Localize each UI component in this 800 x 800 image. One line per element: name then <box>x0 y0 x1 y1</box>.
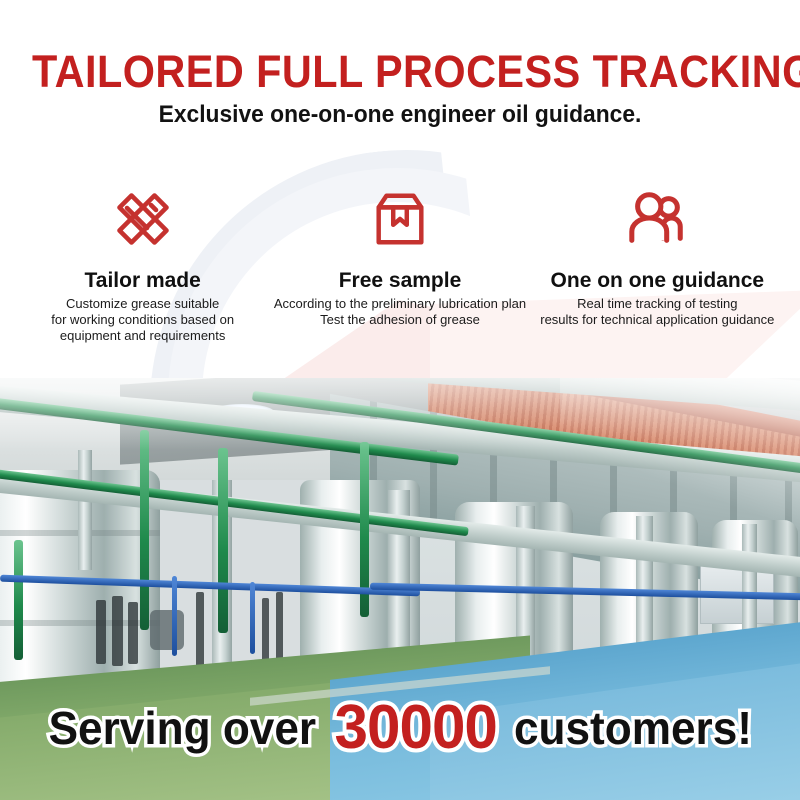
support-post <box>78 450 92 570</box>
feature-title: Tailor made <box>85 269 201 293</box>
feature-desc-line: for working conditions based on <box>51 312 234 328</box>
feature-desc-line: equipment and requirements <box>51 328 234 344</box>
feature-desc-line: According to the preliminary lubrication… <box>274 296 526 312</box>
feature-title: One on one guidance <box>551 269 765 293</box>
feature-description: Real time tracking of testing results fo… <box>540 296 774 328</box>
process-equipment <box>112 596 123 666</box>
process-equipment <box>128 602 138 664</box>
blue-pipe-vertical <box>250 582 255 654</box>
feature-description: According to the preliminary lubrication… <box>274 296 526 328</box>
banner-suffix: customers! <box>514 701 752 755</box>
green-pipe-vertical <box>14 540 23 660</box>
process-equipment <box>96 600 106 664</box>
feature-columns: Tailor made Customize grease suitable fo… <box>0 183 800 343</box>
feature-desc-line: Customize grease suitable <box>51 296 234 312</box>
feature-title: Free sample <box>339 269 462 293</box>
header-panel: TAILORED FULL PROCESS TRACKING Exclusive… <box>0 0 800 378</box>
package-box-icon <box>369 183 431 255</box>
feature-desc-line: Real time tracking of testing <box>540 296 774 312</box>
two-people-icon <box>626 183 688 255</box>
green-pipe-vertical <box>140 430 149 630</box>
feature-desc-line: results for technical application guidan… <box>540 312 774 328</box>
process-equipment <box>150 610 184 650</box>
promotional-infographic: TAILORED FULL PROCESS TRACKING Exclusive… <box>0 0 800 800</box>
feature-free-sample: Free sample According to the preliminary… <box>271 183 528 328</box>
customer-count-banner: Serving over 30000 customers! <box>0 693 800 763</box>
feature-description: Customize grease suitable for working co… <box>51 296 234 344</box>
feature-desc-line: Test the adhesion of grease <box>274 312 526 328</box>
blue-pipe-vertical <box>172 576 177 656</box>
feature-tailor-made: Tailor made Customize grease suitable fo… <box>14 183 271 344</box>
process-equipment <box>196 592 204 670</box>
banner-prefix: Serving over <box>49 701 317 755</box>
banner-customer-count: 30000 <box>334 697 496 759</box>
page-subtitle: Exclusive one-on-one engineer oil guidan… <box>20 100 780 130</box>
feature-one-on-one-guidance: One on one guidance Real time tracking o… <box>529 183 786 328</box>
page-title: TAILORED FULL PROCESS TRACKING <box>32 48 768 96</box>
green-pipe-vertical <box>218 448 228 633</box>
ruler-pencil-icon <box>111 183 175 255</box>
